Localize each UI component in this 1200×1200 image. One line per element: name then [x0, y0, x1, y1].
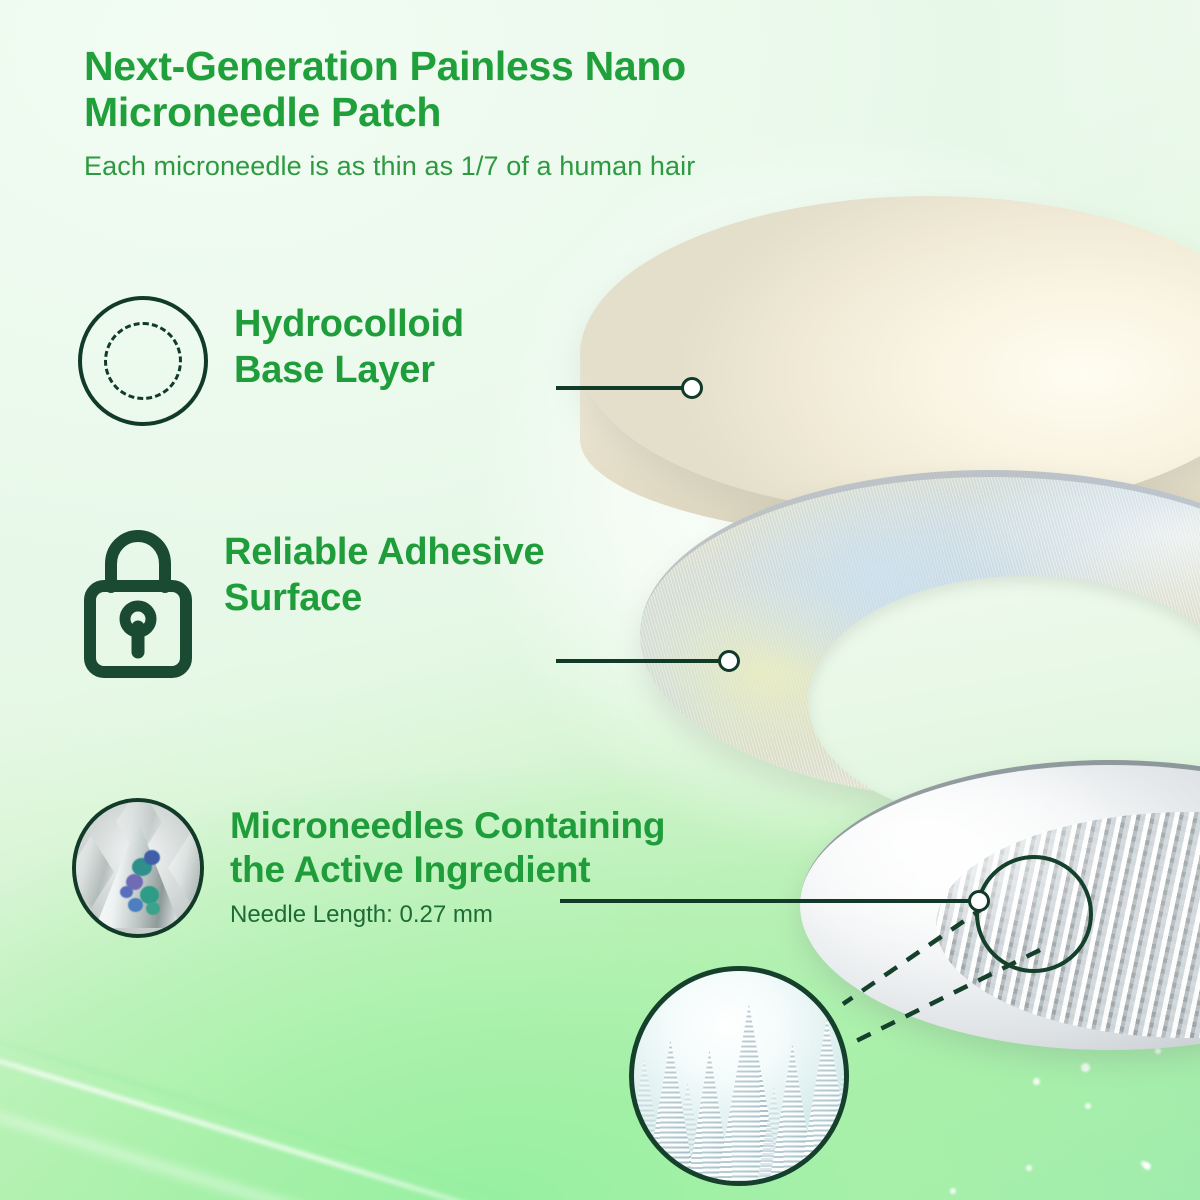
leader-line-hydrocolloid	[556, 386, 688, 390]
background-pyramid	[168, 832, 204, 904]
microneedle-pyramid-icon-shape	[72, 798, 204, 938]
lock-icon	[78, 524, 198, 689]
feature-hydrocolloid-base-layer[interactable]: Hydrocolloid Base Layer	[78, 296, 464, 426]
header-block: Next-Generation Painless Nano Microneedl…	[84, 44, 844, 182]
leader-dot-adhesive	[718, 650, 740, 672]
feature-heading: Hydrocolloid Base Layer	[234, 302, 464, 393]
feature-text-block: Reliable Adhesive Surface	[224, 524, 544, 621]
sparkle-dot	[1085, 1103, 1091, 1109]
feature-heading: Microneedles Containing the Active Ingre…	[230, 804, 665, 893]
active-ingredient-particle	[120, 886, 133, 898]
dashed-circle-icon-shape	[78, 296, 208, 426]
sparkle-dot	[1033, 1078, 1040, 1085]
feature-microneedles-active-ingredient[interactable]: Microneedles Containing the Active Ingre…	[72, 798, 665, 938]
needle-length-caption: Needle Length: 0.27 mm	[230, 901, 665, 929]
adhesive-ring-layer	[640, 470, 1200, 800]
active-ingredient-particle	[128, 898, 143, 912]
microneedle-zoom-ring	[975, 855, 1093, 973]
microneedle-pyramid-icon	[72, 798, 204, 938]
page-subtitle: Each microneedle is as thin as 1/7 of a …	[84, 151, 844, 182]
feature-text-block: Microneedles Containing the Active Ingre…	[230, 798, 665, 929]
dashed-circle-icon	[78, 296, 208, 426]
active-ingredient-particle	[140, 886, 159, 904]
feature-text-block: Hydrocolloid Base Layer	[234, 296, 464, 393]
leader-line-adhesive	[556, 659, 728, 663]
sparkle-dot	[1141, 1161, 1146, 1166]
infographic-canvas: Next-Generation Painless Nano Microneedl…	[0, 0, 1200, 1200]
sparkle-dot	[1081, 1063, 1090, 1072]
lock-icon-shape	[78, 524, 198, 684]
sparkle-dot	[950, 1188, 956, 1194]
active-ingredient-particle	[144, 850, 160, 865]
page-title: Next-Generation Painless Nano Microneedl…	[84, 44, 844, 136]
leader-dot-hydrocolloid	[681, 377, 703, 399]
microneedle-magnifier	[629, 966, 849, 1186]
feature-heading: Reliable Adhesive Surface	[224, 530, 544, 621]
active-ingredient-particle	[146, 902, 160, 915]
feature-reliable-adhesive-surface[interactable]: Reliable Adhesive Surface	[78, 524, 544, 689]
leader-dot-microneedles	[968, 890, 990, 912]
microneedle-layer-disc	[800, 760, 1200, 1050]
sparkle-dot	[1026, 1165, 1032, 1171]
